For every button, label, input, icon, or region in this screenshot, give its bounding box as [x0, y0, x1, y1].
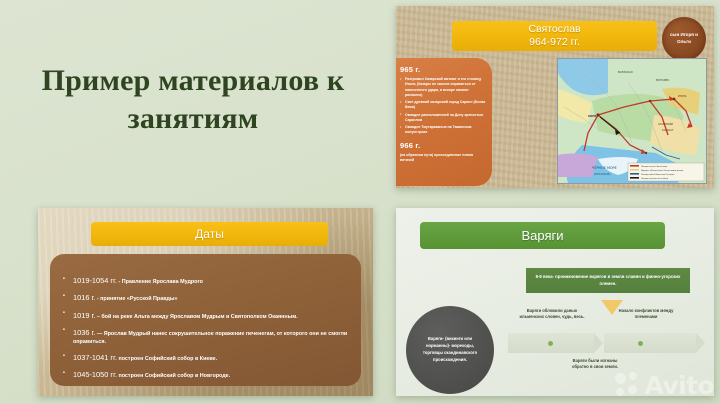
svg-text:Походы печенегов на Киев: Походы печенегов на Киев — [641, 178, 668, 180]
date-value: 1037-1041 гг. — [73, 353, 117, 362]
chevron-step-1 — [508, 333, 594, 353]
svyatoslav-title-line2: 964-972 гг. — [529, 36, 580, 49]
svg-text:ИТИЛЬ: ИТИЛЬ — [678, 95, 687, 98]
list-item: 1037-1041 гг. построен Софийский собор в… — [62, 353, 349, 364]
process-chevron-row — [508, 333, 704, 353]
slide-collage-canvas: Пример материалов к занятиям Святослав 9… — [0, 0, 720, 404]
step-dot-icon — [548, 341, 553, 346]
daty-title-label: Даты — [195, 227, 224, 241]
slide-daty[interactable]: Даты 1019-1054 гг. - Правление Ярослава … — [38, 208, 373, 396]
date-text: построен Софийский собор в Новгороде. — [118, 373, 230, 379]
svg-text:КАГАНАТ: КАГАНАТ — [662, 129, 674, 132]
varyagi-title-label: Варяги — [521, 228, 563, 243]
year-966-heading: 966 г. — [400, 141, 486, 150]
map-graphic: ВОЛЖСКАЯ БУЛГАРИЯ ХАЗАРСКИЙ КАГАНАТ ЧЁРН… — [558, 59, 706, 183]
svg-text:Походы князя Святослава: Походы князя Святослава — [641, 166, 667, 168]
svyatoslav-parent-badge-label: сын Игоря и Ольги — [662, 32, 706, 46]
date-text: — Ярослав Мудрый нанес сокрушительное по… — [73, 331, 347, 345]
daty-title-banner: Даты — [91, 222, 328, 246]
list-item: 1016 г. - принятие «Русской Правды» — [62, 293, 349, 304]
varyagi-definition-circle: Варяги- (викинги или норманны)- мореходы… — [406, 306, 494, 394]
date-value: 1016 г. — [73, 293, 95, 302]
historical-campaign-map[interactable]: ВОЛЖСКАЯ БУЛГАРИЯ ХАЗАРСКИЙ КАГАНАТ ЧЁРН… — [557, 58, 707, 184]
slide-varyagi[interactable]: Варяги 8-9 века- проникновение варягов в… — [396, 208, 714, 396]
list-item: 1045-1050 гг. построен Софийский собор в… — [62, 370, 349, 381]
daty-list: 1019-1054 гг. - Правление Ярослава Мудро… — [62, 276, 349, 381]
svyatoslav-title-line1: Святослав — [528, 23, 580, 36]
date-text: - принятие «Русской Правды» — [97, 296, 178, 302]
date-text: – бой на реке Альта между Ярославом Мудр… — [97, 314, 298, 320]
list-item: 1036 г. — Ярослав Мудрый нанес сокрушите… — [62, 328, 349, 347]
list-item: Овладел Тмутараканью на Таманском полуос… — [400, 125, 486, 136]
svg-text:БУЛГАРИЯ: БУЛГАРИЯ — [656, 79, 669, 82]
svg-text:(РУССКОЕ): (РУССКОЕ) — [594, 172, 611, 176]
svyatoslav-parent-badge: сын Игоря и Ольги — [662, 17, 706, 61]
list-item: 1019 г. – бой на реке Альта между Яросла… — [62, 311, 349, 322]
varyagi-step-1-label: Варяги обложили данью ильменских словен,… — [514, 308, 590, 321]
chevron-step-2 — [604, 333, 696, 353]
svg-text:Походы войск Византии (Греции): Походы войск Византии (Греции) — [641, 173, 675, 176]
daty-content-panel: 1019-1054 гг. - Правление Ярослава Мудро… — [50, 254, 361, 386]
varyagi-step-2-label: Начало конфликтов между племенами — [610, 308, 682, 321]
svyatoslav-events-panel: 965 г. Разгромил Хазарский каганат и его… — [396, 58, 492, 186]
year-965-heading: 965 г. — [400, 65, 486, 74]
varyagi-subtitle-box: 8-9 века- проникновение варягов в земли … — [526, 268, 690, 293]
svg-text:Народы, обложенные Святославом: Народы, обложенные Святославом данью — [641, 169, 684, 172]
step-dot-icon — [638, 341, 643, 346]
list-item: Разгромил Хазарский каганат и его столиц… — [400, 77, 486, 98]
list-item: Сжег древний хазарский город Саркел (Бел… — [400, 100, 486, 111]
year-966-note: (на обратном пути) присоединение племя в… — [400, 153, 486, 164]
list-item: Овладел расположенной на Дону крепостью … — [400, 113, 486, 124]
date-value: 1019 г. — [73, 311, 95, 320]
date-text: построен Софийский собор в Киеве. — [118, 356, 217, 362]
svg-text:ХАЗАРСКИЙ: ХАЗАРСКИЙ — [658, 123, 673, 126]
varyagi-step-3-label: Варяги были изгнаны обратно в свои земли… — [564, 358, 626, 371]
svg-text:ЧЁРНОЕ МОРЕ: ЧЁРНОЕ МОРЕ — [592, 165, 617, 170]
year-965-bullet-list: Разгромил Хазарский каганат и его столиц… — [400, 77, 486, 136]
svg-text:КИЕВ: КИЕВ — [588, 114, 596, 118]
svg-text:ВОЛЖСКАЯ: ВОЛЖСКАЯ — [618, 71, 633, 74]
varyagi-subtitle-label: 8-9 века- проникновение варягов в земли … — [532, 274, 684, 287]
date-value: 1045-1050 гг. — [73, 370, 117, 379]
page-title: Пример материалов к занятиям — [18, 62, 368, 139]
varyagi-title-banner: Варяги — [420, 222, 665, 249]
list-item: 1019-1054 гг. - Правление Ярослава Мудро… — [62, 276, 349, 287]
date-value: 1019-1054 гг. — [73, 276, 117, 285]
slide-svyatoslav[interactable]: Святослав 964-972 гг. сын Игоря и Ольги … — [396, 6, 714, 188]
date-text: - Правление Ярослава Мудрого — [118, 279, 203, 285]
svyatoslav-title-banner: Святослав 964-972 гг. — [452, 21, 657, 51]
varyagi-definition-label: Варяги- (викинги или норманны)- мореходы… — [406, 336, 494, 363]
date-value: 1036 г. — [73, 328, 95, 337]
